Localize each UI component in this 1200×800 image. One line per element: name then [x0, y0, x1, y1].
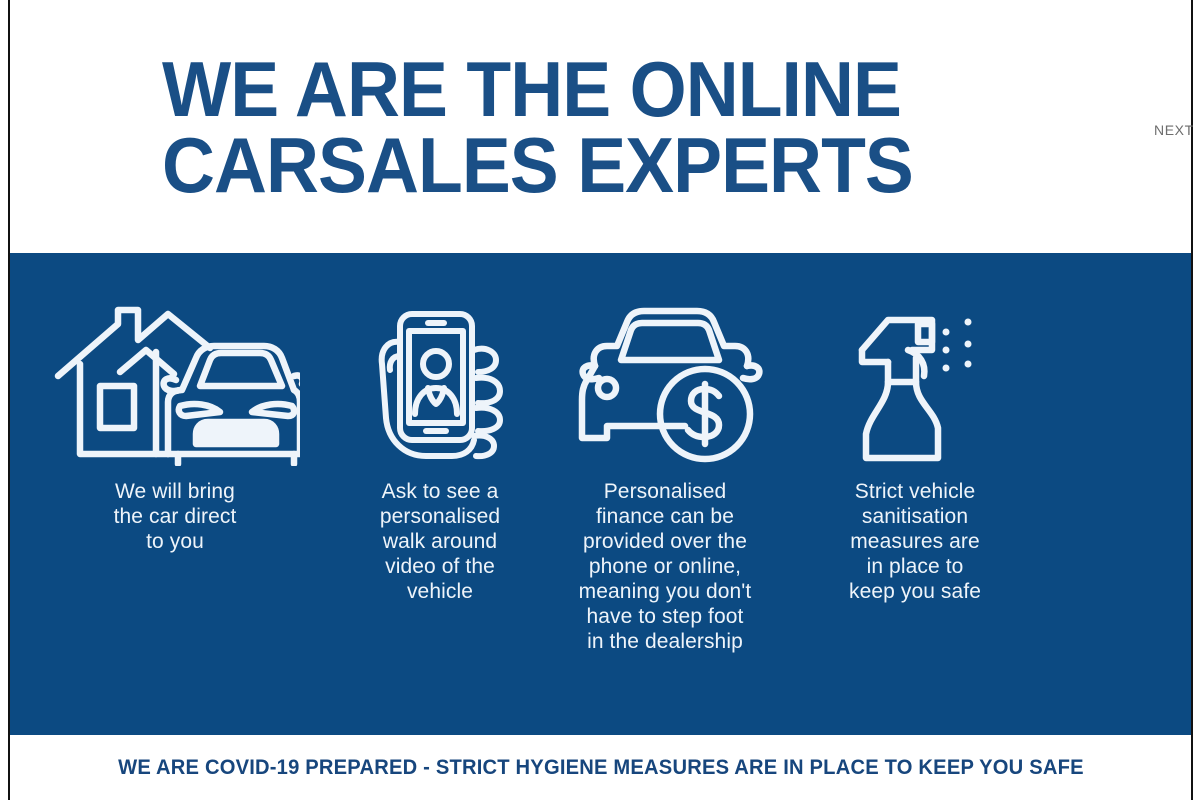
page-title: WE ARE THE ONLINE CARSALES EXPERTS: [162, 52, 1036, 203]
feature-item-video-walkaround: Ask to see a personalised walk around vi…: [340, 253, 540, 605]
frame-border-right: [1191, 0, 1193, 800]
footer-bar: WE ARE COVID-19 PREPARED - STRICT HYGIEN…: [10, 735, 1191, 800]
feature-item-home-delivery: We will bring the car direct to you: [10, 253, 340, 555]
spray-bottle-sanitise-icon: [840, 303, 990, 468]
car-with-dollar-coin-icon: [565, 303, 765, 468]
feature-item-sanitisation: Strict vehicle sanitisation measures are…: [790, 253, 1040, 605]
footer-tagline: WE ARE COVID-19 PREPARED - STRICT HYGIEN…: [118, 756, 1084, 780]
house-with-car-icon: [50, 303, 300, 468]
feature-panel: We will bring the car direct to you: [10, 253, 1191, 735]
feature-caption: Ask to see a personalised walk around vi…: [380, 480, 500, 605]
headline-area: WE ARE THE ONLINE CARSALES EXPERTS NEXT: [10, 0, 1191, 253]
feature-caption: Strict vehicle sanitisation measures are…: [849, 480, 981, 605]
next-button[interactable]: NEXT: [1154, 122, 1194, 138]
feature-list: We will bring the car direct to you: [10, 253, 1191, 735]
feature-item-finance: Personalised finance can be provided ove…: [540, 253, 790, 655]
hand-holding-phone-video-icon: [370, 303, 510, 468]
feature-caption: Personalised finance can be provided ove…: [579, 480, 752, 655]
feature-caption: We will bring the car direct to you: [114, 480, 237, 555]
promo-slide: WE ARE THE ONLINE CARSALES EXPERTS NEXT: [0, 0, 1200, 800]
